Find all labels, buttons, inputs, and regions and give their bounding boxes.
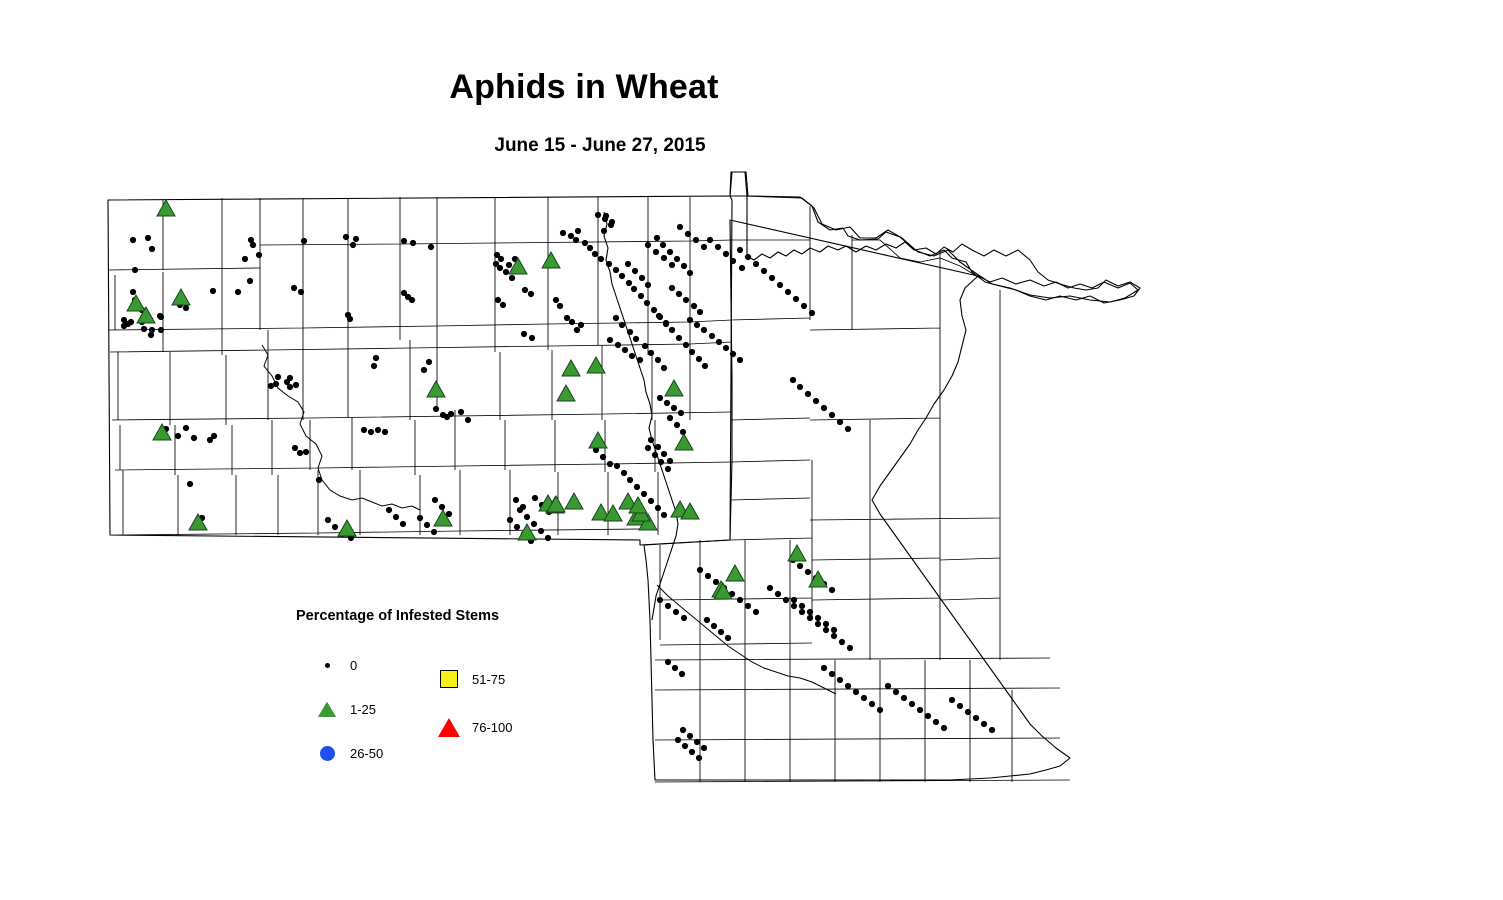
data-point-zero <box>439 504 445 510</box>
data-point-zero <box>791 603 797 609</box>
blue-circle-icon <box>314 746 340 761</box>
data-point-zero <box>497 265 503 271</box>
data-point-zero <box>247 278 253 284</box>
data-point-zero <box>745 603 751 609</box>
data-point-zero <box>901 695 907 701</box>
data-point-zero <box>793 296 799 302</box>
data-point-zero <box>417 515 423 521</box>
data-point-zero <box>715 244 721 250</box>
data-point-zero <box>737 247 743 253</box>
data-point-zero <box>569 319 575 325</box>
data-point-zero <box>725 635 731 641</box>
data-point-zero <box>675 737 681 743</box>
data-point-zero <box>989 727 995 733</box>
data-point-zero <box>829 671 835 677</box>
data-point-zero <box>682 743 688 749</box>
data-point-zero <box>149 246 155 252</box>
data-point-zero <box>573 237 579 243</box>
data-point-zero <box>683 342 689 348</box>
data-point-zero <box>410 240 416 246</box>
data-point-zero <box>676 335 682 341</box>
data-point-zero <box>458 409 464 415</box>
data-point-zero <box>207 437 213 443</box>
data-point-zero <box>353 236 359 242</box>
data-point-low <box>788 545 806 561</box>
data-point-zero <box>350 242 356 248</box>
data-point-zero <box>631 286 637 292</box>
data-point-zero <box>845 683 851 689</box>
yellow-square-icon <box>436 670 462 688</box>
data-point-low <box>562 360 580 376</box>
data-point-zero <box>933 719 939 725</box>
data-point-zero <box>648 498 654 504</box>
data-point-zero <box>568 233 574 239</box>
data-point-zero <box>669 262 675 268</box>
data-point-zero <box>409 297 415 303</box>
data-point-zero <box>595 212 601 218</box>
legend-label-4: 76-100 <box>472 720 512 735</box>
data-point-zero <box>507 517 513 523</box>
data-point-zero <box>639 275 645 281</box>
data-point-zero <box>509 275 515 281</box>
data-point-zero <box>737 357 743 363</box>
data-point-zero <box>638 293 644 299</box>
data-point-zero <box>444 414 450 420</box>
data-point-zero <box>677 224 683 230</box>
data-point-zero <box>634 484 640 490</box>
data-point-zero <box>426 359 432 365</box>
data-point-low <box>557 385 575 401</box>
data-point-low <box>604 505 622 521</box>
legend-item-1: 1-25 <box>314 702 376 717</box>
data-point-zero <box>657 597 663 603</box>
data-point-zero <box>183 305 189 311</box>
data-point-zero <box>701 244 707 250</box>
data-point-low <box>542 252 560 268</box>
data-point-zero <box>697 309 703 315</box>
data-point-zero <box>869 701 875 707</box>
data-point-zero <box>667 249 673 255</box>
data-point-zero <box>557 303 563 309</box>
data-point-zero <box>753 609 759 615</box>
data-point-zero <box>386 507 392 513</box>
data-point-zero <box>428 244 434 250</box>
data-point-zero <box>273 381 279 387</box>
data-point-zero <box>560 230 566 236</box>
data-point-zero <box>805 569 811 575</box>
data-point-zero <box>965 709 971 715</box>
data-point-zero <box>831 627 837 633</box>
data-point-zero <box>598 256 604 262</box>
data-point-zero <box>513 497 519 503</box>
data-point-zero <box>837 419 843 425</box>
data-point-zero <box>949 697 955 703</box>
data-point-zero <box>506 262 512 268</box>
legend-item-4: 76-100 <box>436 718 512 737</box>
data-point-zero <box>431 529 437 535</box>
data-point-zero <box>845 426 851 432</box>
legend-title: Percentage of Infested Stems <box>296 608 556 624</box>
data-point-zero <box>711 623 717 629</box>
data-point-zero <box>545 535 551 541</box>
data-point-zero <box>175 433 181 439</box>
data-point-zero <box>705 573 711 579</box>
data-point-zero <box>821 405 827 411</box>
data-point-zero <box>615 342 621 348</box>
data-point-zero <box>148 332 154 338</box>
data-point-zero <box>158 327 164 333</box>
data-point-zero <box>242 256 248 262</box>
data-point-zero <box>632 268 638 274</box>
data-point-zero <box>574 327 580 333</box>
data-point-zero <box>809 310 815 316</box>
data-point-zero <box>685 231 691 237</box>
data-point-zero <box>687 270 693 276</box>
data-point-zero <box>769 275 775 281</box>
data-point-low <box>338 520 356 536</box>
data-point-zero <box>681 615 687 621</box>
legend-item-0: 0 <box>314 658 357 673</box>
data-point-low <box>172 289 190 305</box>
data-point-zero <box>679 671 685 677</box>
data-point-zero <box>941 725 947 731</box>
legend-item-3: 51-75 <box>436 670 505 688</box>
data-point-zero <box>673 609 679 615</box>
data-point-zero <box>665 659 671 665</box>
data-point-zero <box>503 269 509 275</box>
data-point-zero <box>777 282 783 288</box>
data-point-zero <box>652 452 658 458</box>
data-point-zero <box>301 238 307 244</box>
data-point-zero <box>797 384 803 390</box>
data-point-zero <box>655 357 661 363</box>
data-point-zero <box>465 417 471 423</box>
data-point-zero <box>687 317 693 323</box>
data-point-low <box>153 424 171 440</box>
data-point-zero <box>663 320 669 326</box>
data-point-zero <box>145 235 151 241</box>
green-triangle-icon <box>314 702 340 717</box>
data-point-zero <box>401 238 407 244</box>
marker-group-low <box>127 200 827 599</box>
data-point-zero <box>514 524 520 530</box>
data-point-zero <box>667 458 673 464</box>
data-point-zero <box>648 350 654 356</box>
data-point-zero <box>672 665 678 671</box>
data-point-zero <box>973 715 979 721</box>
data-point-zero <box>648 437 654 443</box>
data-point-zero <box>582 240 588 246</box>
data-point-zero <box>799 609 805 615</box>
data-point-zero <box>210 288 216 294</box>
data-point-zero <box>641 491 647 497</box>
data-point-zero <box>292 445 298 451</box>
data-point-zero <box>532 495 538 501</box>
data-point-zero <box>681 263 687 269</box>
data-point-zero <box>645 282 651 288</box>
data-point-low <box>157 200 175 216</box>
data-point-zero <box>696 755 702 761</box>
data-point-zero <box>626 280 632 286</box>
data-point-zero <box>592 251 598 257</box>
data-point-zero <box>529 335 535 341</box>
data-point-zero <box>709 333 715 339</box>
data-point-zero <box>671 405 677 411</box>
data-point-zero <box>680 727 686 733</box>
data-point-zero <box>674 422 680 428</box>
small-black-dot-icon <box>314 663 340 668</box>
data-point-zero <box>957 703 963 709</box>
data-point-zero <box>807 609 813 615</box>
data-point-zero <box>303 449 309 455</box>
data-point-zero <box>382 429 388 435</box>
data-point-zero <box>702 363 708 369</box>
data-point-zero <box>433 406 439 412</box>
data-point-zero <box>183 425 189 431</box>
data-point-zero <box>676 291 682 297</box>
data-point-zero <box>853 689 859 695</box>
data-point-zero <box>831 633 837 639</box>
data-point-zero <box>125 321 131 327</box>
data-point-zero <box>158 314 164 320</box>
data-point-zero <box>141 326 147 332</box>
data-point-zero <box>823 621 829 627</box>
data-point-zero <box>191 435 197 441</box>
data-point-zero <box>661 365 667 371</box>
data-point-zero <box>689 349 695 355</box>
data-point-zero <box>739 265 745 271</box>
data-point-zero <box>701 327 707 333</box>
data-point-zero <box>325 517 331 523</box>
data-point-zero <box>815 621 821 627</box>
data-point-zero <box>654 235 660 241</box>
data-point-zero <box>603 213 609 219</box>
data-point-zero <box>723 345 729 351</box>
data-point-zero <box>730 351 736 357</box>
data-point-zero <box>861 695 867 701</box>
data-point-zero <box>737 597 743 603</box>
data-point-zero <box>347 316 353 322</box>
data-point-zero <box>187 481 193 487</box>
data-point-zero <box>813 398 819 404</box>
data-point-zero <box>791 597 797 603</box>
data-point-zero <box>607 461 613 467</box>
data-point-zero <box>371 363 377 369</box>
data-point-zero <box>687 733 693 739</box>
data-point-zero <box>614 463 620 469</box>
legend-label-2: 26-50 <box>350 746 383 761</box>
data-point-zero <box>522 287 528 293</box>
data-point-zero <box>785 289 791 295</box>
page-title: Aphids in Wheat <box>0 68 1168 107</box>
data-point-zero <box>130 237 136 243</box>
data-point-zero <box>716 339 722 345</box>
data-point-zero <box>704 617 710 623</box>
data-point-zero <box>829 587 835 593</box>
data-point-zero <box>655 444 661 450</box>
data-point-zero <box>799 603 805 609</box>
data-point-low <box>665 380 683 396</box>
data-point-zero <box>500 302 506 308</box>
data-point-zero <box>575 228 581 234</box>
data-point-zero <box>807 615 813 621</box>
data-point-zero <box>783 597 789 603</box>
data-point-zero <box>801 303 807 309</box>
data-point-zero <box>600 454 606 460</box>
data-point-zero <box>498 256 504 262</box>
data-point-zero <box>815 615 821 621</box>
data-point-zero <box>316 477 322 483</box>
data-point-zero <box>130 289 136 295</box>
data-point-zero <box>661 512 667 518</box>
data-point-zero <box>613 267 619 273</box>
data-point-zero <box>660 242 666 248</box>
data-point-zero <box>730 258 736 264</box>
page-subtitle: June 15 - June 27, 2015 <box>0 135 1200 157</box>
data-point-low <box>427 381 445 397</box>
data-point-zero <box>707 237 713 243</box>
map-legend: Percentage of Infested Stems 0 1-25 26-5… <box>296 608 556 768</box>
county-boundaries <box>108 197 1070 782</box>
data-point-zero <box>723 251 729 257</box>
data-point-zero <box>694 322 700 328</box>
legend-label-3: 51-75 <box>472 672 505 687</box>
data-point-zero <box>667 415 673 421</box>
data-point-zero <box>587 245 593 251</box>
data-point-zero <box>524 514 530 520</box>
data-point-zero <box>674 256 680 262</box>
data-point-zero <box>606 261 612 267</box>
data-point-zero <box>661 451 667 457</box>
data-point-zero <box>495 297 501 303</box>
data-point-zero <box>767 585 773 591</box>
data-point-zero <box>645 242 651 248</box>
data-point-zero <box>627 329 633 335</box>
data-point-zero <box>531 521 537 527</box>
data-point-zero <box>678 410 684 416</box>
data-point-zero <box>393 514 399 520</box>
data-point-zero <box>665 466 671 472</box>
data-point-zero <box>633 336 639 342</box>
data-point-zero <box>373 355 379 361</box>
data-point-zero <box>657 395 663 401</box>
legend-label-1: 1-25 <box>350 702 376 717</box>
data-point-zero <box>256 252 262 258</box>
data-point-zero <box>823 627 829 633</box>
data-point-zero <box>925 713 931 719</box>
data-point-zero <box>821 665 827 671</box>
red-triangle-icon <box>436 718 462 737</box>
data-point-zero <box>287 384 293 390</box>
data-point-zero <box>658 459 664 465</box>
data-point-low <box>675 434 693 450</box>
data-point-zero <box>538 528 544 534</box>
legend-item-2: 26-50 <box>314 746 383 761</box>
data-point-zero <box>521 331 527 337</box>
data-point-zero <box>665 603 671 609</box>
data-point-zero <box>375 427 381 433</box>
data-point-zero <box>601 228 607 234</box>
data-point-zero <box>424 522 430 528</box>
data-point-zero <box>839 639 845 645</box>
data-point-zero <box>790 377 796 383</box>
data-point-zero <box>421 367 427 373</box>
data-point-zero <box>629 353 635 359</box>
data-point-zero <box>368 429 374 435</box>
data-point-zero <box>837 677 843 683</box>
data-point-zero <box>683 297 689 303</box>
data-point-zero <box>625 261 631 267</box>
data-point-zero <box>619 273 625 279</box>
data-point-zero <box>400 521 406 527</box>
data-point-zero <box>745 254 751 260</box>
data-point-zero <box>696 356 702 362</box>
data-point-zero <box>627 477 633 483</box>
data-point-zero <box>656 313 662 319</box>
data-point-zero <box>642 343 648 349</box>
data-point-zero <box>607 337 613 343</box>
data-point-zero <box>797 563 803 569</box>
data-point-zero <box>520 504 526 510</box>
data-point-zero <box>909 701 915 707</box>
data-point-zero <box>651 307 657 313</box>
data-point-zero <box>664 400 670 406</box>
data-point-zero <box>829 412 835 418</box>
data-point-zero <box>689 749 695 755</box>
data-point-zero <box>885 683 891 689</box>
data-point-zero <box>847 645 853 651</box>
data-point-zero <box>697 567 703 573</box>
data-point-zero <box>669 285 675 291</box>
data-point-zero <box>343 234 349 240</box>
data-point-zero <box>622 347 628 353</box>
data-point-zero <box>621 470 627 476</box>
data-point-zero <box>753 261 759 267</box>
data-point-zero <box>718 629 724 635</box>
data-point-zero <box>291 285 297 291</box>
data-point-zero <box>713 579 719 585</box>
data-point-zero <box>917 707 923 713</box>
data-point-zero <box>805 391 811 397</box>
data-point-zero <box>235 289 241 295</box>
data-point-zero <box>275 374 281 380</box>
legend-label-0: 0 <box>350 658 357 673</box>
data-point-zero <box>981 721 987 727</box>
data-point-zero <box>645 445 651 451</box>
data-point-zero <box>564 315 570 321</box>
data-point-low <box>589 432 607 448</box>
data-point-zero <box>877 707 883 713</box>
data-point-zero <box>248 237 254 243</box>
data-point-zero <box>132 267 138 273</box>
data-point-low <box>565 493 583 509</box>
data-point-zero <box>619 322 625 328</box>
data-point-zero <box>578 322 584 328</box>
data-point-zero <box>644 300 650 306</box>
data-point-zero <box>528 291 534 297</box>
data-point-zero <box>669 327 675 333</box>
data-point-zero <box>691 303 697 309</box>
data-point-zero <box>298 289 304 295</box>
data-point-zero <box>893 689 899 695</box>
data-point-zero <box>297 450 303 456</box>
data-point-low <box>726 565 744 581</box>
data-point-zero <box>701 745 707 751</box>
data-point-zero <box>293 382 299 388</box>
data-point-low <box>127 295 145 311</box>
data-point-zero <box>637 357 643 363</box>
data-point-zero <box>432 497 438 503</box>
